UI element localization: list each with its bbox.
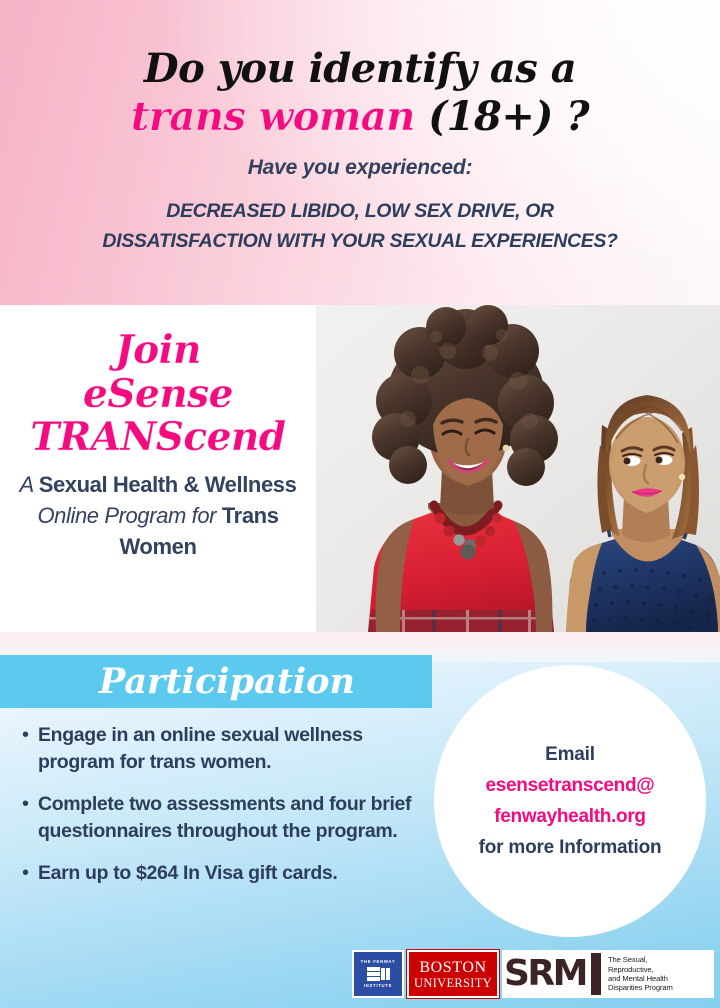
participation-title: Participation: [77, 661, 355, 702]
program-description: A Sexual Health & Wellness Online Progra…: [10, 469, 306, 563]
sub-question: Have you experienced:: [248, 156, 473, 180]
logo-strip: THE FENWAY INSTITUTE BOSTON UNIVERSITY S…: [352, 950, 714, 998]
bu-logo-line-2: UNIVERSITY: [414, 976, 492, 990]
list-item-text: Earn up to $264 In Visa gift cards.: [38, 860, 437, 887]
hero-content: Do you identify as a trans woman (18+) ?…: [0, 0, 720, 305]
headline-line-2: trans woman (18+) ?: [40, 94, 680, 140]
headline-tail: (18+) ?: [415, 93, 589, 140]
program-text-column: Join eSense TRANScend A Sexual Health & …: [0, 305, 316, 632]
contact-circle: Email esensetranscend@ fenwayhealth.org …: [434, 665, 706, 937]
hero-section: Do you identify as a trans woman (18+) ?…: [0, 0, 720, 305]
program-title-line-3: TRANScend: [30, 416, 285, 460]
fenway-logo-bottom-text: INSTITUTE: [364, 983, 393, 989]
contact-email-line-1[interactable]: esensetranscend@: [486, 770, 655, 801]
contact-label: Email: [545, 739, 595, 770]
program-desc-b1: Sexual Health &: [39, 472, 199, 497]
boston-university-logo: BOSTON UNIVERSITY: [407, 950, 499, 998]
program-desc-a: A: [20, 472, 39, 497]
symptoms-text: DECREASED LIBIDO, LOW SEX DRIVE, OR DISS…: [20, 196, 700, 256]
srm-program-line-1: The Sexual,: [608, 955, 673, 964]
bullet-marker-icon: •: [22, 791, 38, 845]
list-item: • Engage in an online sexual wellness pr…: [22, 722, 437, 776]
srm-program-line-4: Disparities Program: [608, 983, 673, 992]
list-item: • Complete two assessments and four brie…: [22, 791, 437, 845]
list-item: • Earn up to $264 In Visa gift cards.: [22, 860, 437, 887]
bullet-marker-icon: •: [22, 860, 38, 887]
srm-program-line-3: and Mental Health: [608, 974, 673, 983]
srm-program-name: The Sexual, Reproductive, and Mental Hea…: [608, 955, 673, 992]
program-title-line-1: Join: [30, 329, 285, 373]
program-desc-b2: Wellness: [205, 472, 297, 497]
participation-list: • Engage in an online sexual wellness pr…: [22, 722, 437, 902]
bullet-marker-icon: •: [22, 722, 38, 776]
contact-footer-text: for more Information: [479, 832, 662, 863]
program-title-line-2: eSense: [30, 373, 285, 417]
headline-line-1: Do you identify as a: [40, 46, 680, 92]
list-item-text: Complete two assessments and four brief …: [38, 791, 437, 845]
program-photo: [316, 305, 720, 632]
page-title: Do you identify as a trans woman (18+) ?: [40, 46, 680, 139]
srm-divider-bar-icon: [591, 953, 601, 995]
contact-email-line-2[interactable]: fenwayhealth.org: [494, 801, 645, 832]
poster-root: Do you identify as a trans woman (18+) ?…: [0, 0, 720, 1008]
fenway-logo-top-text: THE FENWAY: [361, 959, 396, 965]
srm-program-line-2: Reproductive,: [608, 965, 673, 974]
srm-logo: SRM The Sexual, Reproductive, and Mental…: [502, 950, 714, 998]
fenway-institute-logo: THE FENWAY INSTITUTE: [352, 950, 404, 998]
participation-banner: Participation: [0, 655, 432, 708]
srm-wordmark: SRM: [504, 956, 591, 992]
program-title: Join eSense TRANScend: [30, 329, 285, 460]
list-item-text: Engage in an online sexual wellness prog…: [38, 722, 437, 776]
symptoms-line-1: DECREASED LIBIDO, LOW SEX DRIVE, OR: [20, 196, 700, 226]
headline-pink-phrase: trans woman: [131, 93, 415, 140]
program-desc-c: Online Program for: [37, 503, 221, 528]
bu-logo-line-1: BOSTON: [419, 959, 486, 976]
fenway-mark-icon: [367, 967, 390, 981]
symptoms-line-2: DISSATISFACTION WITH YOUR SEXUAL EXPERIE…: [20, 226, 700, 256]
